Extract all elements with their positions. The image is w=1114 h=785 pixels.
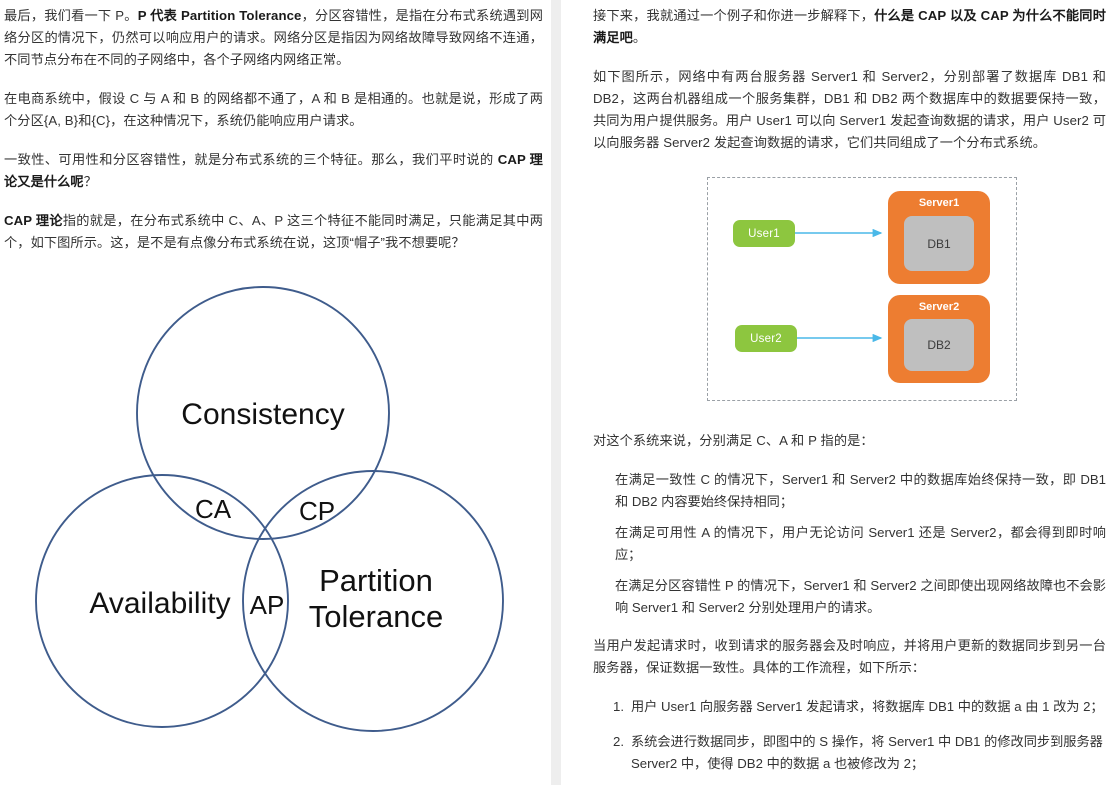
- step-number: 2.: [613, 731, 624, 753]
- cap-venn-diagram: Consistency Availability Partition Toler…: [4, 271, 551, 771]
- body-text: 一致性、可用性和分区容错性，就是分布式系统的三个特征。那么，我们平时说的: [4, 152, 498, 167]
- def-c: 在满足一致性 C 的情况下，Server1 和 Server2 中的数据库始终保…: [615, 469, 1106, 513]
- body-text: 最后，我们看一下 P。: [4, 8, 138, 23]
- body-text: 如下图所示，网络中有两台服务器 Server1 和 Server2，分别部署了数…: [593, 69, 1106, 150]
- workflow-intro-paragraph: 当用户发起请求时，收到请求的服务器会及时响应，并将用户更新的数据同步到另一台服务…: [593, 635, 1106, 679]
- venn-label-tolerance: Tolerance: [309, 599, 443, 634]
- server2-label: Server2: [888, 301, 990, 313]
- p-partition-tolerance: 最后，我们看一下 P。P 代表 Partition Tolerance，分区容错…: [4, 5, 543, 71]
- emphasized-text: CAP 理论: [4, 213, 63, 228]
- venn-label-ca: CA: [195, 494, 232, 524]
- document-page: 最后，我们看一下 P。P 代表 Partition Tolerance，分区容错…: [0, 0, 1114, 785]
- user1-node[interactable]: User1: [733, 220, 795, 247]
- def-p: 在满足分区容错性 P 的情况下，Server1 和 Server2 之间即使出现…: [615, 575, 1106, 619]
- server2-node[interactable]: Server2 DB2: [888, 295, 990, 383]
- column-divider: [551, 0, 561, 785]
- step-number: 1.: [613, 696, 624, 718]
- venn-label-availability: Availability: [89, 587, 230, 620]
- p-ecommerce-example: 在电商系统中，假设 C 与 A 和 B 的网络都不通了，A 和 B 是相通的。也…: [4, 88, 543, 132]
- workflow-step-item: 1.用户 User1 向服务器 Server1 发起请求，将数据库 DB1 中的…: [613, 696, 1106, 718]
- server1-label: Server1: [888, 197, 990, 209]
- db2-node[interactable]: DB2: [904, 319, 974, 371]
- body-text: 指的就是，在分布式系统中 C、A、P 这三个特征不能同时满足，只能满足其中两个，…: [4, 213, 543, 250]
- cap-definition-list: 在满足一致性 C 的情况下，Server1 和 Server2 中的数据库始终保…: [615, 469, 1106, 619]
- venn-label-consistency: Consistency: [181, 398, 344, 431]
- left-column: 最后，我们看一下 P。P 代表 Partition Tolerance，分区容错…: [0, 0, 551, 785]
- venn-label-partition: Partition: [319, 563, 433, 598]
- step-text: 用户 User1 向服务器 Server1 发起请求，将数据库 DB1 中的数据…: [631, 699, 1104, 714]
- body-text: ？: [84, 174, 97, 189]
- venn-svg: Consistency Availability Partition Toler…: [4, 271, 551, 771]
- p-cap-theory: CAP 理论指的就是，在分布式系统中 C、A、P 这三个特征不能同时满足，只能满…: [4, 210, 543, 254]
- body-text: 。: [633, 30, 646, 45]
- right-top-paragraph-list: 接下来，我就通过一个例子和你进一步解释下，什么是 CAP 以及 CAP 为什么不…: [593, 5, 1106, 154]
- workflow-step-list: 1.用户 User1 向服务器 Server1 发起请求，将数据库 DB1 中的…: [593, 696, 1106, 775]
- venn-label-ap: AP: [250, 590, 285, 620]
- left-paragraph-list: 最后，我们看一下 P。P 代表 Partition Tolerance，分区容错…: [4, 5, 543, 254]
- emphasized-text: P 代表 Partition Tolerance: [138, 8, 302, 23]
- cap-lead-in-paragraph: 对这个系统来说，分别满足 C、A 和 P 指的是：: [593, 430, 1106, 452]
- p-intro-example: 接下来，我就通过一个例子和你进一步解释下，什么是 CAP 以及 CAP 为什么不…: [593, 5, 1106, 49]
- server1-node[interactable]: Server1 DB1: [888, 191, 990, 284]
- def-a: 在满足可用性 A 的情况下，用户无论访问 Server1 还是 Server2，…: [615, 522, 1106, 566]
- db1-node[interactable]: DB1: [904, 216, 974, 271]
- body-text: 在电商系统中，假设 C 与 A 和 B 的网络都不通了，A 和 B 是相通的。也…: [4, 91, 543, 128]
- user2-node[interactable]: User2: [735, 325, 797, 352]
- body-text: 当用户发起请求时，收到请求的服务器会及时响应，并将用户更新的数据同步到另一台服务…: [593, 638, 1106, 675]
- body-text: 接下来，我就通过一个例子和你进一步解释下，: [593, 8, 874, 23]
- p-three-features: 一致性、可用性和分区容错性，就是分布式系统的三个特征。那么，我们平时说的 CAP…: [4, 149, 543, 193]
- body-text: 对这个系统来说，分别满足 C、A 和 P 指的是：: [593, 433, 874, 448]
- workflow-step-item: 2.系统会进行数据同步，即图中的 S 操作，将 Server1 中 DB1 的修…: [613, 731, 1106, 775]
- right-column: 接下来，我就通过一个例子和你进一步解释下，什么是 CAP 以及 CAP 为什么不…: [561, 0, 1114, 785]
- distributed-system-diagram: Server1 DB1 Server2 DB2 User1 User2: [593, 171, 1114, 416]
- step-text: 系统会进行数据同步，即图中的 S 操作，将 Server1 中 DB1 的修改同…: [631, 734, 1103, 771]
- diagram-arrows: [593, 171, 1114, 416]
- p-system-setup: 如下图所示，网络中有两台服务器 Server1 和 Server2，分别部署了数…: [593, 66, 1106, 154]
- venn-label-cp: CP: [299, 496, 335, 526]
